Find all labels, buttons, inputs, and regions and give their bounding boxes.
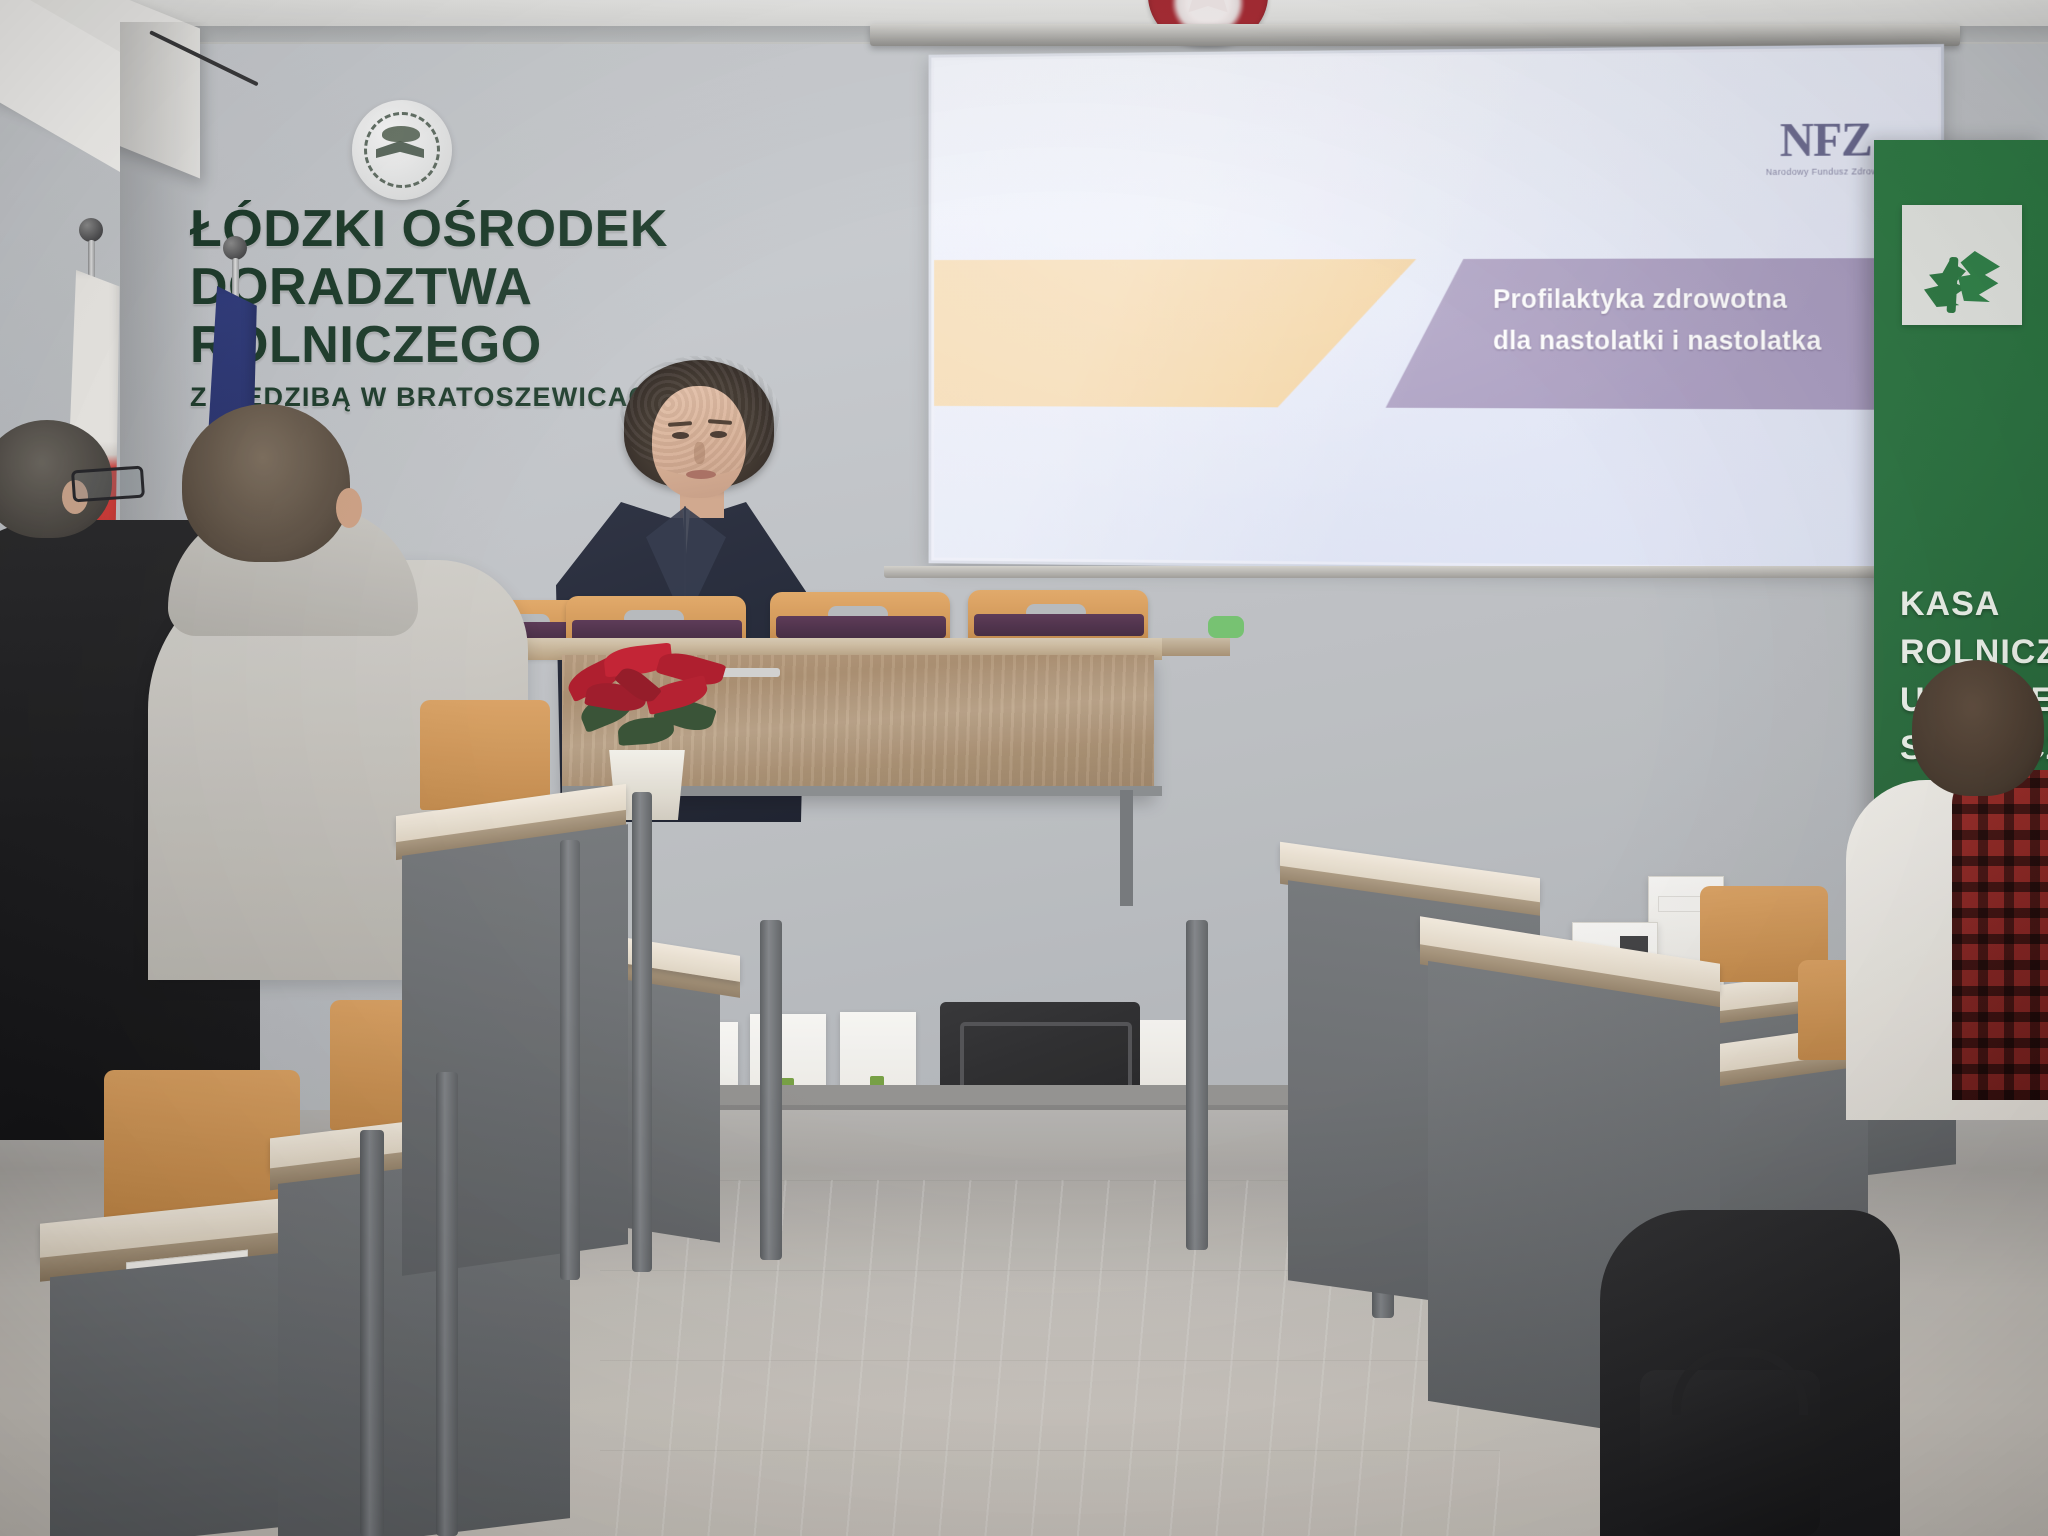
attendee-head (182, 404, 350, 562)
flag-finial (223, 236, 247, 260)
eye-left (672, 432, 689, 439)
banner-line-1: KASA (1900, 580, 2048, 628)
attendee-ear (336, 488, 362, 528)
tier-chair-back (420, 700, 550, 810)
mouth (686, 470, 716, 479)
chair-seat (974, 614, 1144, 636)
odr-emblem-icon (352, 100, 452, 200)
krus-logo (1902, 205, 2022, 325)
tier-leg (760, 920, 782, 1260)
nose (694, 442, 705, 464)
flag-finial (79, 218, 103, 242)
green-item-on-table (1208, 616, 1244, 638)
eye-right (710, 431, 727, 438)
table-leg (1120, 790, 1133, 906)
plaid-shirt (1952, 770, 2048, 1100)
projection-screen: Profilaktyka zdrowotna dla nastolatki i … (929, 44, 1944, 574)
tier-leg (1186, 920, 1208, 1250)
sign-line-2: DORADZTWA (190, 258, 830, 316)
projection-screen-case (870, 24, 1960, 46)
conference-room-photo: ŁÓDZKI OŚRODEK DORADZTWA ROLNICZEGO Z SI… (0, 0, 2048, 1536)
tier-leg (436, 1072, 458, 1536)
wheat-ear-icon (1958, 251, 2000, 303)
attendee-head (1912, 660, 2044, 796)
screen-bottom-bar (884, 566, 1944, 578)
plant-leaf (617, 716, 675, 746)
tier-leg (360, 1130, 384, 1536)
glasses-icon (71, 466, 145, 503)
screen-border (929, 44, 1944, 574)
sign-line-1: ŁÓDZKI OŚRODEK (190, 200, 830, 258)
chair-seat (776, 616, 946, 638)
box-label (1658, 896, 1706, 912)
tier-leg (560, 840, 580, 1280)
emblem-leaf-icon (382, 126, 420, 142)
tier-leg (632, 792, 652, 1272)
wheat-ear-icon (1924, 261, 1966, 307)
